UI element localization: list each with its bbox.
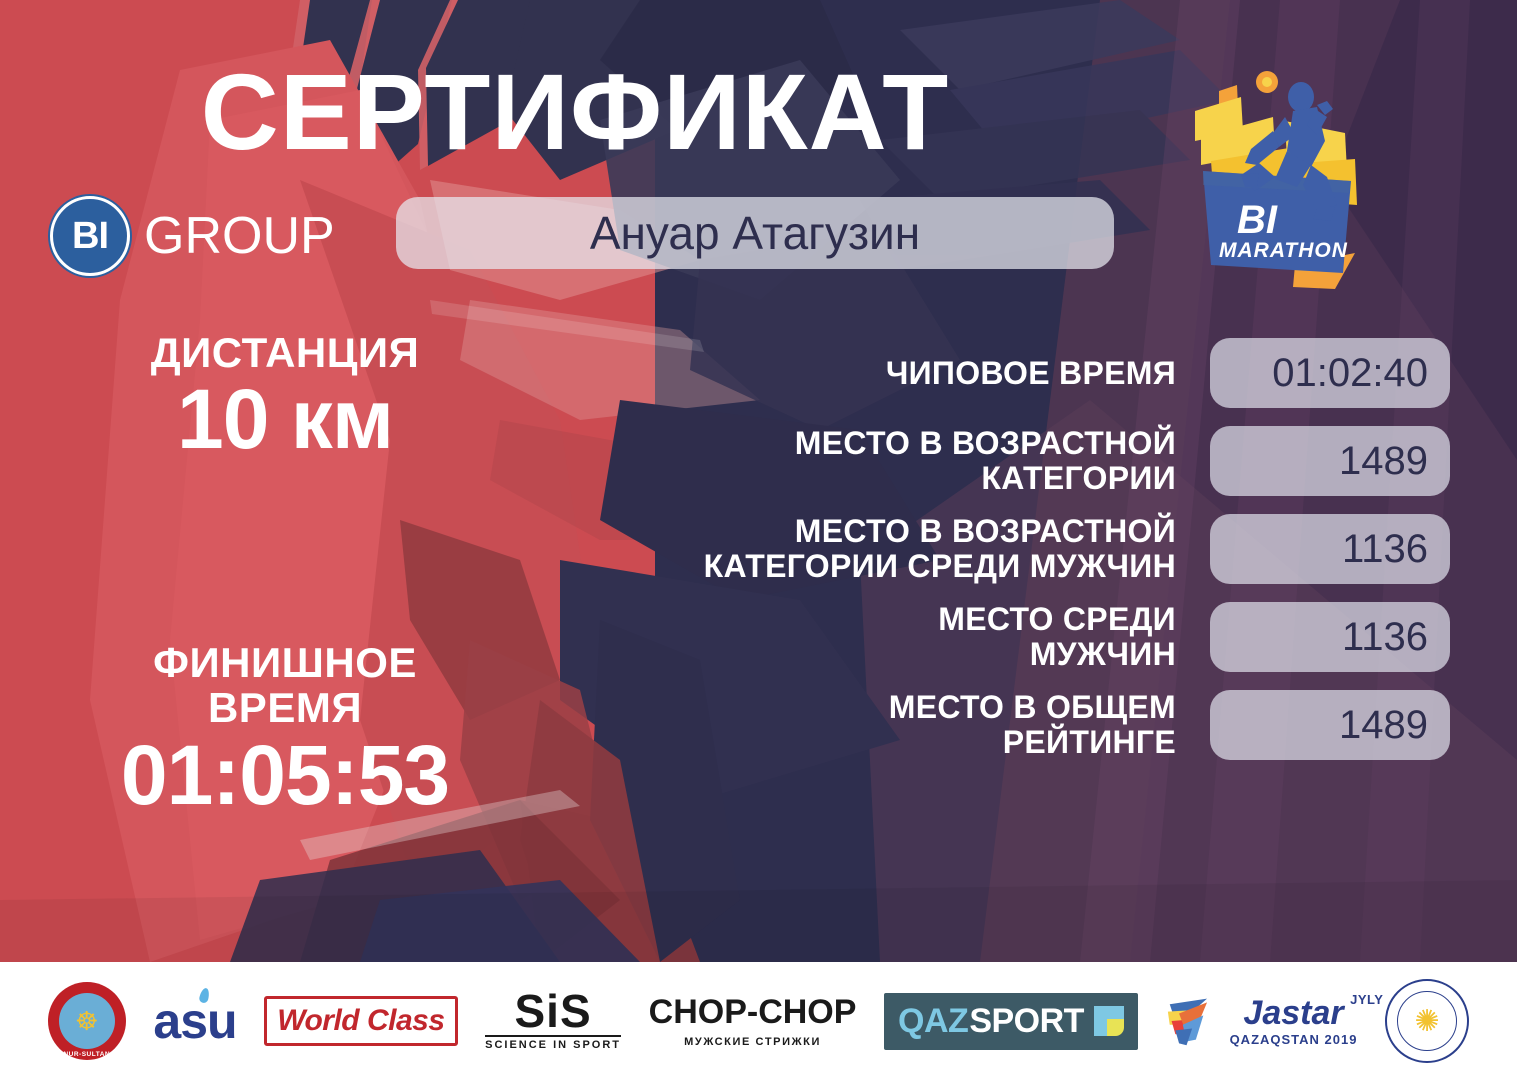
stat-pill-chip-time: 01:02:40 [1210,338,1450,408]
qazsport-label-sport: SPORT [969,1002,1084,1041]
chop-chop-tagline: МУЖСКИЕ СТРИЖКИ [649,1036,857,1048]
sponsor-bar: ☸ NUR-SULTAN asu World Class SiS SCIENCE… [0,962,1517,1080]
sis-tagline: SCIENCE IN SPORT [485,1035,621,1051]
jastar-jyly-label: JYLY [1350,992,1383,1007]
bi-marathon-line1: BI [1237,198,1278,242]
stat-value-age-category-men-place: 1136 [1342,527,1428,572]
finish-time-label-line1: ФИНИШНОЕ [20,640,550,685]
chop-chop-logo-icon: CHOP-CHOP МУЖСКИЕ СТРИЖКИ [649,995,857,1048]
finish-time-label-line2: ВРЕМЯ [20,685,550,730]
sis-label: SiS [485,991,621,1032]
stat-label-overall-place: МЕСТО В ОБЩЕМ РЕЙТИНГЕ [560,690,1210,759]
stat-label-age-category-men-place: МЕСТО В ВОЗРАСТНОЙ КАТЕГОРИИ СРЕДИ МУЖЧИ… [560,514,1210,583]
sponsor-jastar-jyly: Jastar JYLY QAZAQSTAN 2019 [1166,979,1358,1063]
stat-pill-age-category-men-place: 1136 [1210,514,1450,584]
bi-group-label: GROUP [144,206,335,266]
nur-sultan-label: NUR-SULTAN [48,1051,126,1058]
bi-marathon-line2: MARATHON [1219,239,1348,262]
stat-pill-overall-place: 1489 [1210,690,1450,760]
stat-label-chip-time: ЧИПОВОЕ ВРЕМЯ [560,356,1210,391]
stat-row-chip-time: ЧИПОВОЕ ВРЕМЯ 01:02:40 [560,338,1450,408]
finish-time-block: ФИНИШНОЕ ВРЕМЯ 01:05:53 [20,640,550,819]
asu-logo-icon: asu [153,992,236,1050]
sponsor-ministry: ✺ [1385,979,1469,1063]
chop-chop-label: CHOP-CHOP [649,995,857,1029]
jastar-bird-icon [1166,993,1222,1049]
certificate-card: СЕРТИФИКАТ BI GROUP Ануар Атагузин ДИСТА… [0,0,1517,1080]
participant-name: Ануар Атагузин [590,206,920,260]
bi-group-logo: BI GROUP [50,196,335,276]
sponsor-sis: SiS SCIENCE IN SPORT [485,979,621,1063]
nur-sultan-emblem-icon: ☸ NUR-SULTAN [48,982,126,1060]
finish-time-value: 01:05:53 [20,731,550,819]
jastar-qazaqstan-label: QAZAQSTAN 2019 [1230,1032,1358,1047]
sponsor-chop-chop: CHOP-CHOP МУЖСКИЕ СТРИЖКИ [649,979,857,1063]
bi-marathon-logo: BI MARATHON [1175,55,1395,305]
stat-row-men-place: МЕСТО СРЕДИ МУЖЧИН 1136 [560,602,1450,672]
stat-value-overall-place: 1489 [1339,703,1428,748]
stat-row-overall-place: МЕСТО В ОБЩЕМ РЕЙТИНГЕ 1489 [560,690,1450,760]
sis-logo-icon: SiS SCIENCE IN SPORT [485,991,621,1050]
distance-block: ДИСТАНЦИЯ 10 км [20,330,550,464]
stat-value-chip-time: 01:02:40 [1272,351,1428,396]
world-class-logo-icon: World Class [264,996,457,1046]
stat-label-age-category-place: МЕСТО В ВОЗРАСТНОЙ КАТЕГОРИИ [560,426,1210,495]
results-stats-list: ЧИПОВОЕ ВРЕМЯ 01:02:40 МЕСТО В ВОЗРАСТНО… [560,338,1450,778]
stat-label-men-place: МЕСТО СРЕДИ МУЖЧИН [560,602,1210,671]
stat-pill-men-place: 1136 [1210,602,1450,672]
participant-name-field: Ануар Атагузин [396,197,1114,269]
jastar-text-block: Jastar JYLY QAZAQSTAN 2019 [1230,996,1358,1047]
jastar-jyly-logo-icon: Jastar JYLY QAZAQSTAN 2019 [1166,993,1358,1049]
distance-value: 10 км [20,375,550,463]
sponsor-nur-sultan: ☸ NUR-SULTAN [48,979,126,1063]
sponsor-asu: asu [153,979,236,1063]
stat-pill-age-category-place: 1489 [1210,426,1450,496]
distance-label: ДИСТАНЦИЯ [20,330,550,375]
jastar-label: Jastar [1230,996,1358,1030]
nur-sultan-inner-icon: ☸ [59,993,115,1049]
stat-row-age-category-men-place: МЕСТО В ВОЗРАСТНОЙ КАТЕГОРИИ СРЕДИ МУЖЧИ… [560,514,1450,584]
qazsport-label-qaz: QAZ [898,1002,968,1041]
page-title: СЕРТИФИКАТ [0,58,1150,166]
stat-row-age-category-place: МЕСТО В ВОЗРАСТНОЙ КАТЕГОРИИ 1489 [560,426,1450,496]
bi-badge-icon: BI [50,196,130,276]
ministry-emblem-icon: ✺ [1385,979,1469,1063]
stat-value-men-place: 1136 [1342,615,1428,660]
qazsport-mark-icon [1094,1006,1124,1036]
sponsor-qazsport: QAZ SPORT [884,979,1138,1063]
qazsport-logo-icon: QAZ SPORT [884,993,1138,1050]
ministry-core-icon: ✺ [1397,991,1457,1051]
certificate-content: СЕРТИФИКАТ BI GROUP Ануар Атагузин ДИСТА… [0,0,1517,962]
sponsor-world-class: World Class [264,979,457,1063]
stat-value-age-category-place: 1489 [1339,439,1428,484]
asu-label: asu [153,993,236,1049]
